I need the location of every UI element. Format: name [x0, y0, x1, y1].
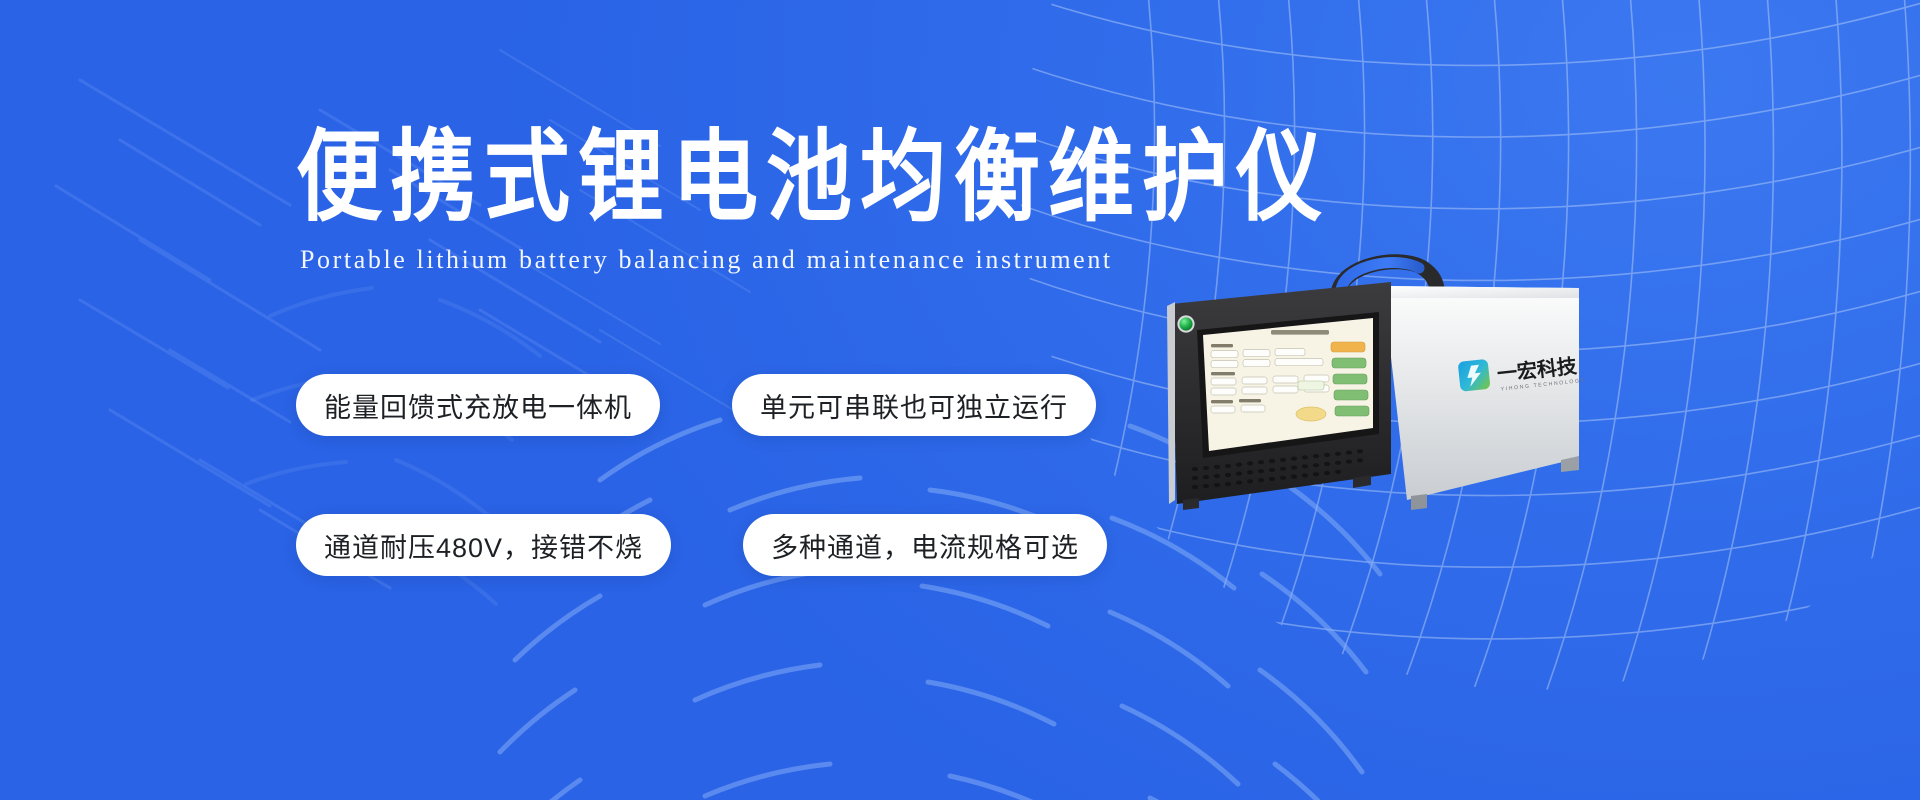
promo-banner: 便携式锂电池均衡维护仪 Portable lithium battery bal…	[0, 0, 1920, 800]
feature-pill-voltage-rating[interactable]: 通道耐压480V，接错不烧	[296, 514, 671, 576]
feature-pill-energy-feedback[interactable]: 能量回馈式充放电一体机	[296, 374, 660, 436]
device-body	[1383, 286, 1579, 510]
product-device-image: 一宏科技 YIHONG TECHNOLOGY	[1155, 238, 1585, 518]
feature-pill-row-2: 通道耐压480V，接错不烧 多种通道，电流规格可选	[296, 514, 1116, 576]
banner-content: 便携式锂电池均衡维护仪 Portable lithium battery bal…	[0, 0, 1920, 800]
feature-pill-channel-options[interactable]: 多种通道，电流规格可选	[743, 514, 1107, 576]
page-subtitle: Portable lithium battery balancing and m…	[300, 245, 1113, 275]
feature-pill-series-independent[interactable]: 单元可串联也可独立运行	[732, 374, 1096, 436]
feature-pill-row-1: 能量回馈式充放电一体机 单元可串联也可独立运行	[296, 374, 1116, 436]
feature-pill-list: 能量回馈式充放电一体机 单元可串联也可独立运行 通道耐压480V，接错不烧 多种…	[296, 374, 1116, 654]
screen-confirm-button	[1296, 407, 1326, 421]
screen-title-text	[1271, 330, 1329, 335]
power-indicator-icon	[1177, 315, 1194, 332]
device-svg: 一宏科技 YIHONG TECHNOLOGY	[1155, 238, 1585, 518]
page-title: 便携式锂电池均衡维护仪	[296, 128, 1330, 228]
